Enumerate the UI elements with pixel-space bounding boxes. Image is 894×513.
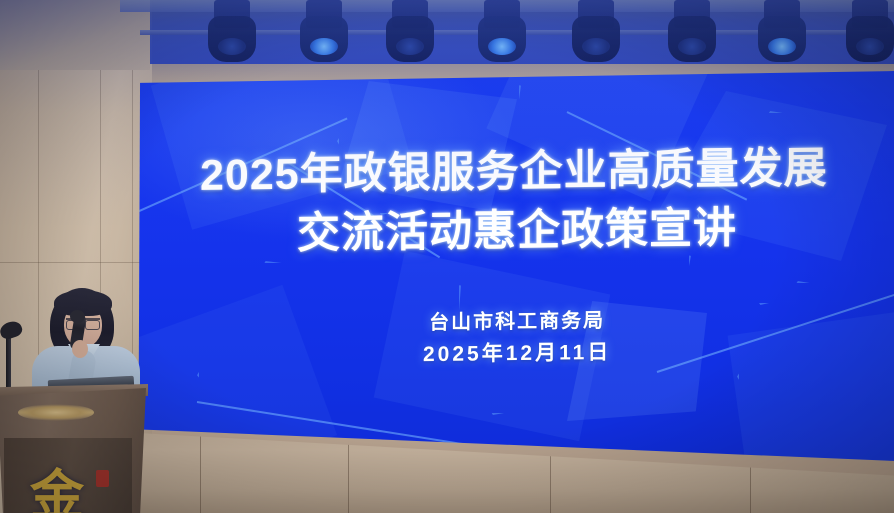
podium-gold-ornament — [18, 404, 94, 421]
light-lens — [396, 38, 424, 55]
speaker-hand — [72, 340, 88, 358]
light-lens — [678, 38, 706, 55]
slide-title-line-1: 2025年政银服务企业高质量发展 — [200, 141, 828, 204]
led-presentation-screen: 2025年政银服务企业高质量发展 交流活动惠企政策宣讲 台山市科工商务局 202… — [137, 71, 894, 467]
photo-scene: 2025年政银服务企业高质量发展 交流活动惠企政策宣讲 台山市科工商务局 202… — [0, 0, 894, 513]
light-lens — [582, 38, 610, 55]
light-lens — [768, 38, 796, 55]
podium-red-seal — [96, 470, 109, 487]
light-lens — [488, 38, 516, 55]
light-lens — [218, 38, 246, 55]
light-lens — [310, 38, 338, 55]
slide-content: 2025年政银服务企业高质量发展 交流活动惠企政策宣讲 台山市科工商务局 202… — [137, 71, 894, 467]
slide-date: 2025年12月11日 — [423, 338, 611, 370]
slide-organization: 台山市科工商务局 — [429, 306, 605, 338]
light-lens — [856, 38, 884, 55]
podium-logo-character: 金 — [26, 470, 88, 513]
slide-title-line-2: 交流活动惠企政策宣讲 — [297, 201, 737, 261]
wall-seam — [0, 262, 140, 263]
slide-subtitle-block: 台山市科工商务局 2025年12月11日 — [423, 306, 611, 370]
